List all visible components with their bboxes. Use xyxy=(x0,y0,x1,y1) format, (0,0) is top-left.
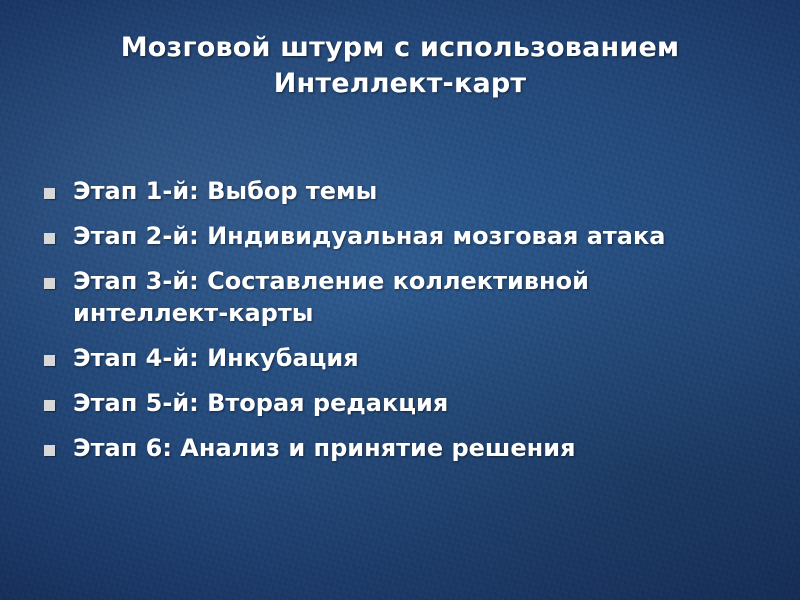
square-bullet-icon xyxy=(44,355,55,366)
list-item: Этап 1-й: Выбор темы xyxy=(44,176,764,207)
bullet-list: Этап 1-й: Выбор темы Этап 2-й: Индивидуа… xyxy=(44,176,764,478)
list-item: Этап 3-й: Составление коллективной интел… xyxy=(44,266,764,328)
square-bullet-icon xyxy=(44,188,55,199)
square-bullet-icon xyxy=(44,445,55,456)
list-item: Этап 6: Анализ и принятие решения xyxy=(44,433,764,464)
list-item: Этап 5-й: Вторая редакция xyxy=(44,388,764,419)
square-bullet-icon xyxy=(44,233,55,244)
list-item-label: Этап 4-й: Инкубация xyxy=(73,343,359,374)
list-item-label: Этап 5-й: Вторая редакция xyxy=(73,388,448,419)
list-item-label: Этап 3-й: Составление коллективной интел… xyxy=(73,266,733,328)
list-item: Этап 2-й: Индивидуальная мозговая атака xyxy=(44,221,764,252)
list-item-label: Этап 6: Анализ и принятие решения xyxy=(73,433,576,464)
list-item-label: Этап 2-й: Индивидуальная мозговая атака xyxy=(73,221,666,252)
presentation-slide: Мозговой штурм с использованием Интеллек… xyxy=(0,0,800,600)
list-item: Этап 4-й: Инкубация xyxy=(44,343,764,374)
square-bullet-icon xyxy=(44,400,55,411)
slide-title: Мозговой штурм с использованием Интеллек… xyxy=(40,30,760,101)
list-item-label: Этап 1-й: Выбор темы xyxy=(73,176,377,207)
square-bullet-icon xyxy=(44,278,55,289)
